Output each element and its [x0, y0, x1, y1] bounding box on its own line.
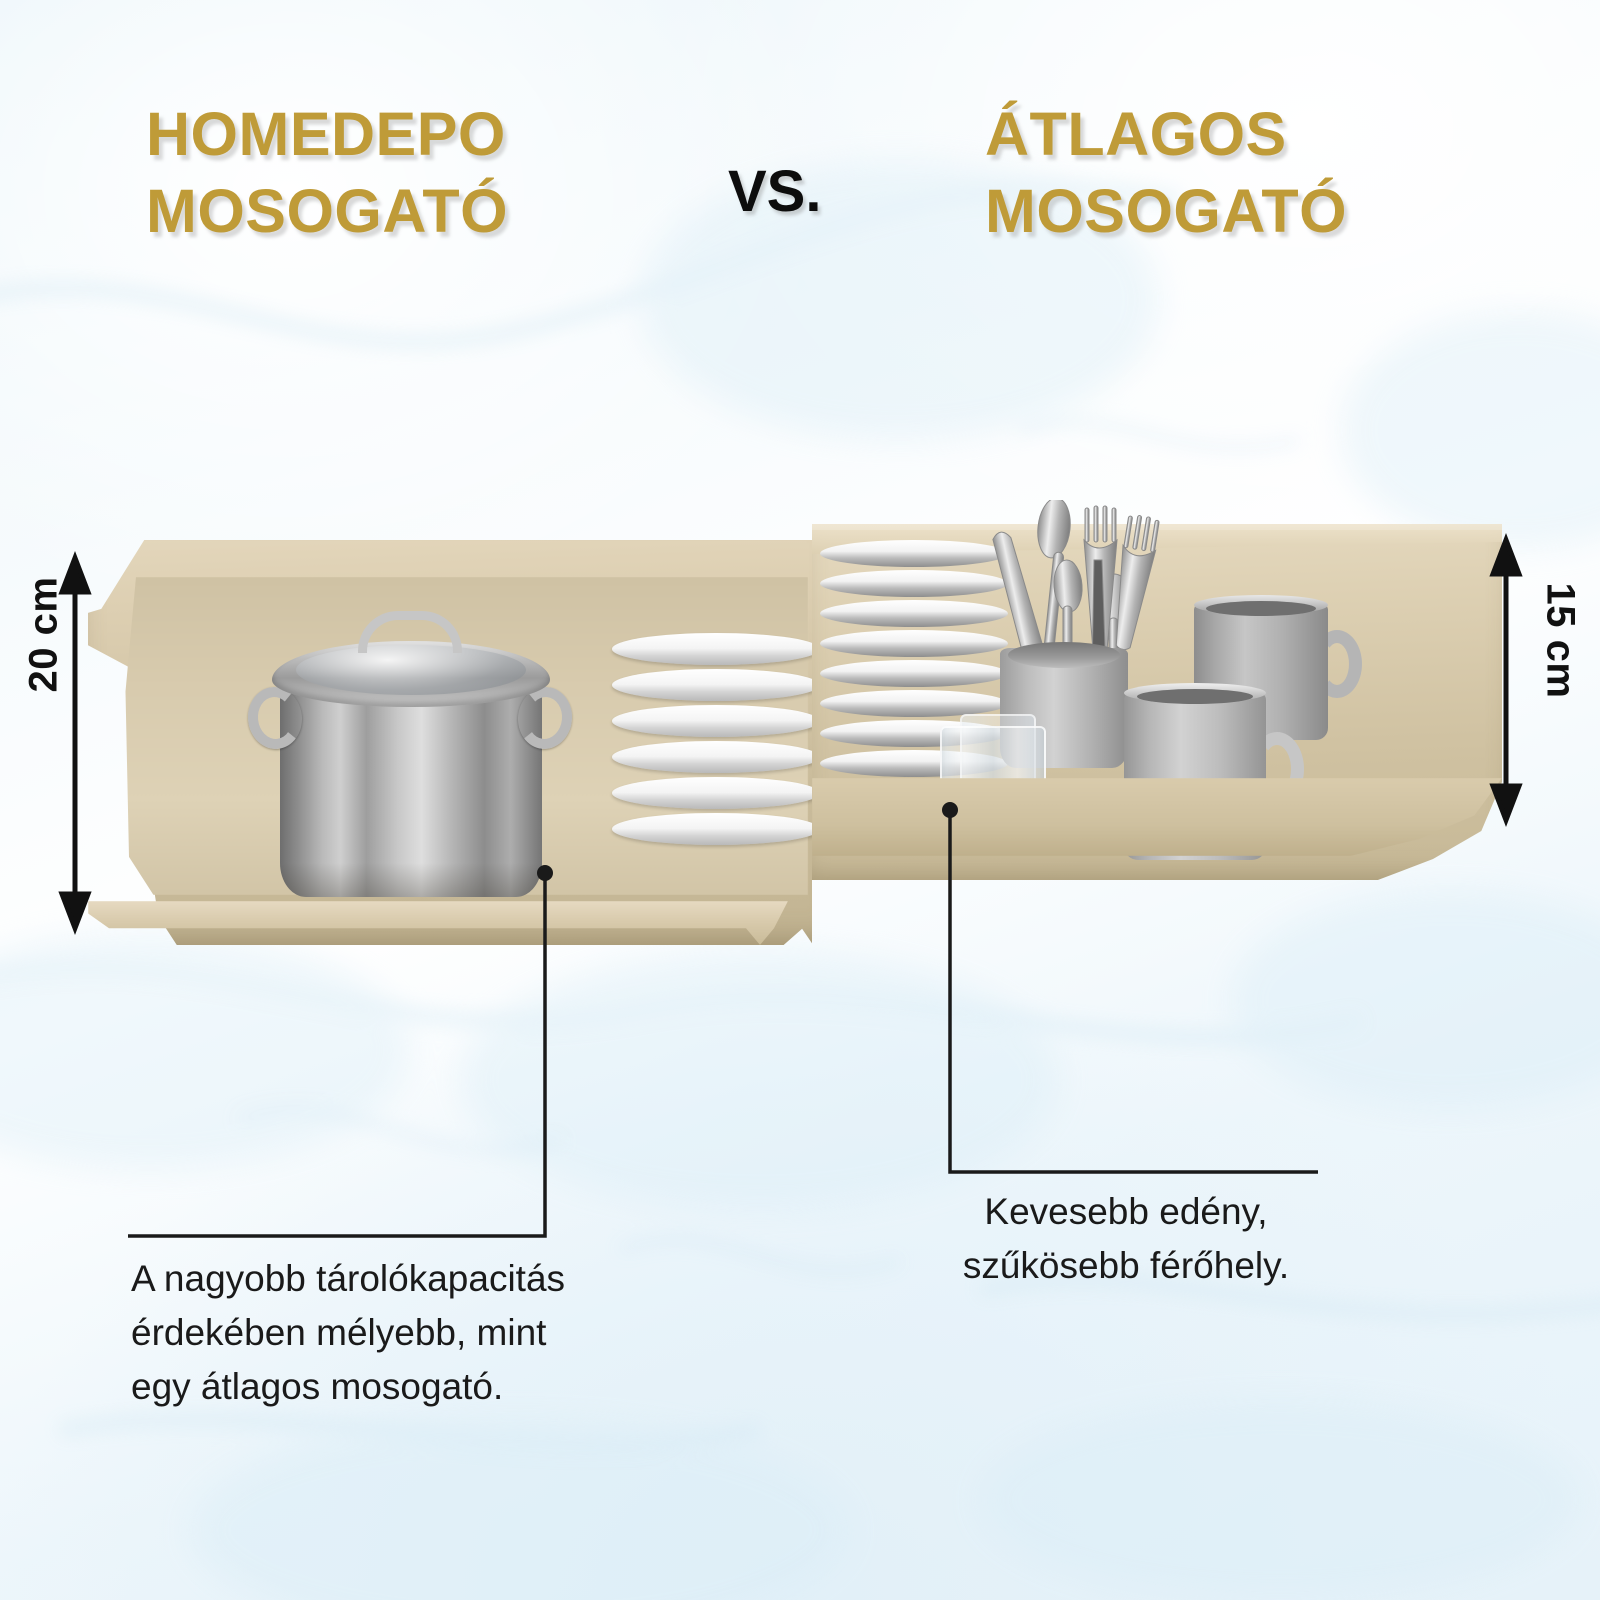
right-caption: Kevesebb edény, szűkösebb férőhely.: [930, 1185, 1322, 1293]
left-callout-leader: [128, 873, 545, 1236]
left-depth-label: 20 cm: [21, 577, 66, 693]
arrow-up-icon: [1493, 540, 1519, 574]
right-callout-leader: [950, 810, 1318, 1172]
right-depth-arrow: [1493, 540, 1519, 820]
callout-dot-icon: [537, 865, 553, 881]
arrow-down-icon: [1493, 786, 1519, 820]
left-caption: A nagyobb tárolókapacitás érdekében mély…: [131, 1252, 565, 1414]
arrow-down-icon: [62, 894, 88, 928]
right-depth-label: 15 cm: [1537, 583, 1582, 699]
callout-dot-icon: [942, 802, 958, 818]
